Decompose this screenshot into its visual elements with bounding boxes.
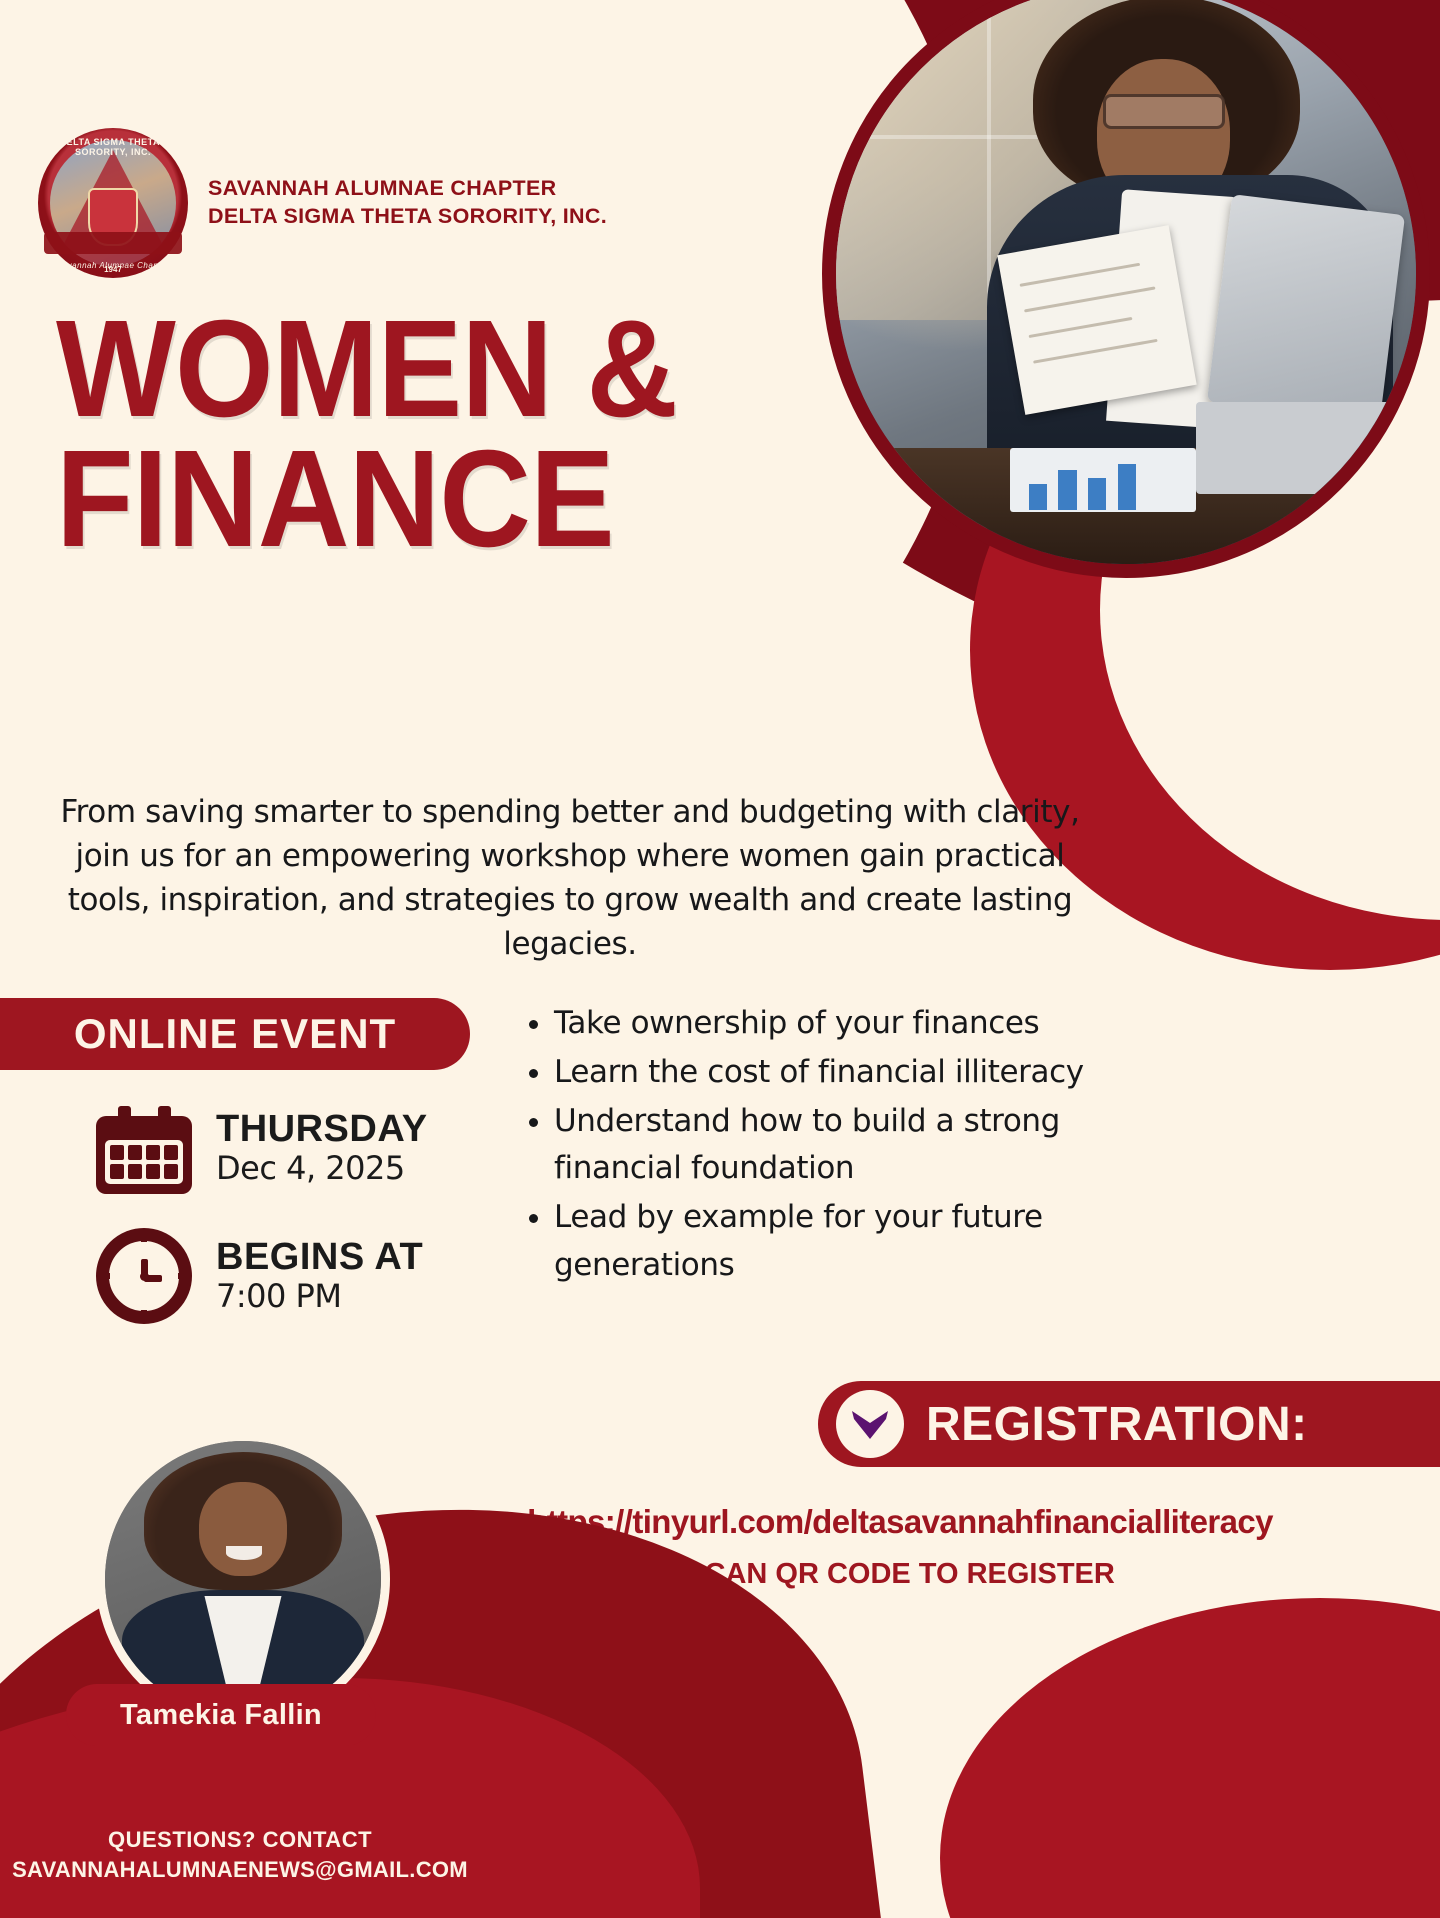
list-item: Take ownership of your finances	[554, 1000, 1174, 1047]
list-item: Learn the cost of financial illiteracy	[554, 1049, 1174, 1096]
registration-url[interactable]: https://tinyurl.com/deltasavannahfinanci…	[380, 1503, 1420, 1541]
registration-label: REGISTRATION:	[926, 1397, 1308, 1452]
speaker-name: Tamekia Fallin	[120, 1699, 322, 1732]
headline-line-1: WOMEN &	[56, 305, 677, 435]
event-day-label: THURSDAY	[216, 1110, 428, 1150]
event-when-block: THURSDAY Dec 4, 2025 BEGINS AT 7:00 PM	[96, 1102, 428, 1358]
calendar-icon	[96, 1102, 192, 1194]
event-date-value: Dec 4, 2025	[216, 1150, 428, 1187]
qr-code-icon[interactable]	[1136, 1650, 1366, 1880]
delta-chevron-badge	[836, 1390, 904, 1458]
delta-sigma-theta-crest-icon: DELTA SIGMA THETA • SORORITY, INC. Savan…	[38, 128, 188, 278]
speaker-name-badge: Tamekia Fallin	[66, 1684, 376, 1746]
flyer-root: DELTA SIGMA THETA • SORORITY, INC. Savan…	[0, 0, 1440, 1918]
event-date-row: THURSDAY Dec 4, 2025	[96, 1102, 428, 1194]
event-time-label: BEGINS AT	[216, 1238, 423, 1278]
contact-email[interactable]: SAVANNAHALUMNAENEWS@GMAIL.COM	[0, 1855, 480, 1885]
list-item: Lead by example for your future generati…	[554, 1194, 1174, 1288]
org-line-1: SAVANNAH ALUMNAE CHAPTER	[208, 175, 607, 203]
contact-prompt: QUESTIONS? CONTACT	[0, 1825, 480, 1855]
clock-icon	[96, 1228, 192, 1324]
hero-photo-woman-with-tablet	[822, 0, 1430, 578]
organization-name: SAVANNAH ALUMNAE CHAPTER DELTA SIGMA THE…	[208, 175, 607, 230]
delta-chevron-icon	[850, 1407, 890, 1441]
speaker-avatar	[96, 1432, 390, 1726]
event-time-value: 7:00 PM	[216, 1278, 423, 1315]
scan-qr-note: SCAN QR CODE TO REGISTER	[380, 1558, 1420, 1591]
chapter-header: DELTA SIGMA THETA • SORORITY, INC. Savan…	[38, 128, 607, 278]
registration-banner: REGISTRATION:	[818, 1381, 1440, 1467]
intro-paragraph: From saving smarter to spending better a…	[40, 790, 1100, 966]
contact-block: QUESTIONS? CONTACT SAVANNAHALUMNAENEWS@G…	[0, 1825, 480, 1884]
headline-line-2: FINANCE	[56, 435, 677, 565]
online-event-badge: ONLINE EVENT	[0, 998, 470, 1070]
org-line-2: DELTA SIGMA THETA SORORITY, INC.	[208, 203, 607, 231]
page-title: WOMEN & FINANCE	[56, 305, 677, 564]
crest-year: 1947	[38, 265, 188, 274]
crest-arc-top-text: DELTA SIGMA THETA • SORORITY, INC.	[38, 137, 188, 157]
benefits-list: Take ownership of your finances Learn th…	[520, 1000, 1174, 1291]
event-time-row: BEGINS AT 7:00 PM	[96, 1228, 428, 1324]
qr-code-frame	[1122, 1636, 1380, 1894]
purple-accent-shape	[593, 0, 867, 103]
online-event-label: ONLINE EVENT	[74, 1010, 396, 1058]
list-item: Understand how to build a strong financi…	[554, 1098, 1174, 1192]
